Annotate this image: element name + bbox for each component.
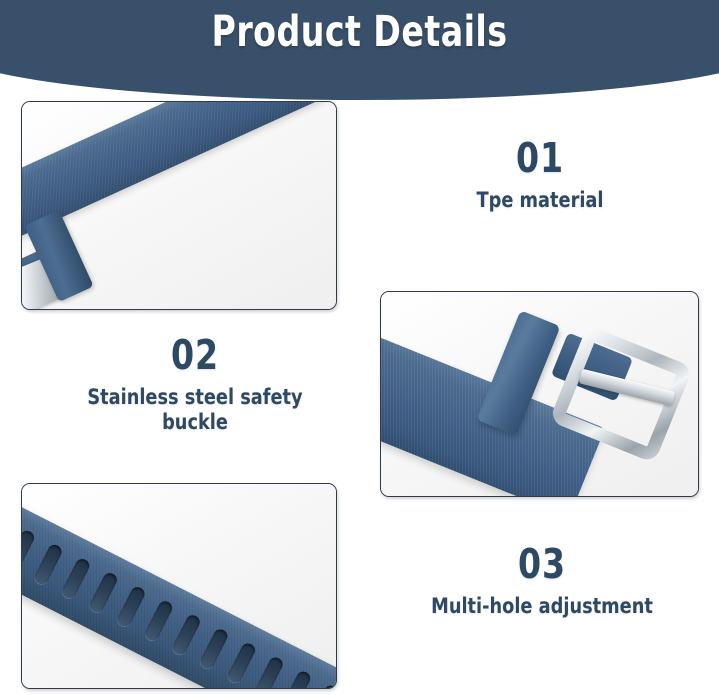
adjustment-hole [198,627,230,671]
adjustment-hole [253,655,285,688]
adjustment-hole [60,557,92,601]
photo-stage-buckle [381,292,698,496]
strap-band-plain [22,102,336,245]
product-photo-panel-3[interactable] [21,483,337,689]
adjustment-hole [32,543,64,587]
adjustment-hole [143,599,175,643]
adjustment-hole [22,528,36,572]
adjustment-hole [88,571,120,615]
photo-stage-plain-strap [22,102,336,309]
photo-stage-holes [22,484,336,688]
feature-number-02: 02 [47,331,344,379]
adjustment-hole [171,613,203,657]
page-title: Product Details [0,11,719,54]
feature-number-03: 03 [407,540,677,588]
adjustment-hole [226,641,258,685]
strap-band-holes [22,492,336,688]
feature-caption-02: 02 Stainless steel safety buckle [30,331,360,435]
header-banner: Product Details [0,0,719,100]
feature-label-02-line-2: buckle [40,410,350,435]
feature-caption-01: 01 Tpe material [406,134,674,213]
feature-label-01: Tpe material [414,188,666,213]
feature-label-02-line-1: Stainless steel safety [40,385,350,410]
feature-label-03: Multi-hole adjustment [401,594,683,619]
adjustment-hole [115,585,147,629]
feature-number-01: 01 [419,134,660,182]
product-photo-panel-2[interactable] [380,291,699,497]
feature-caption-03: 03 Multi-hole adjustment [392,540,692,619]
product-photo-panel-1[interactable] [21,101,337,310]
